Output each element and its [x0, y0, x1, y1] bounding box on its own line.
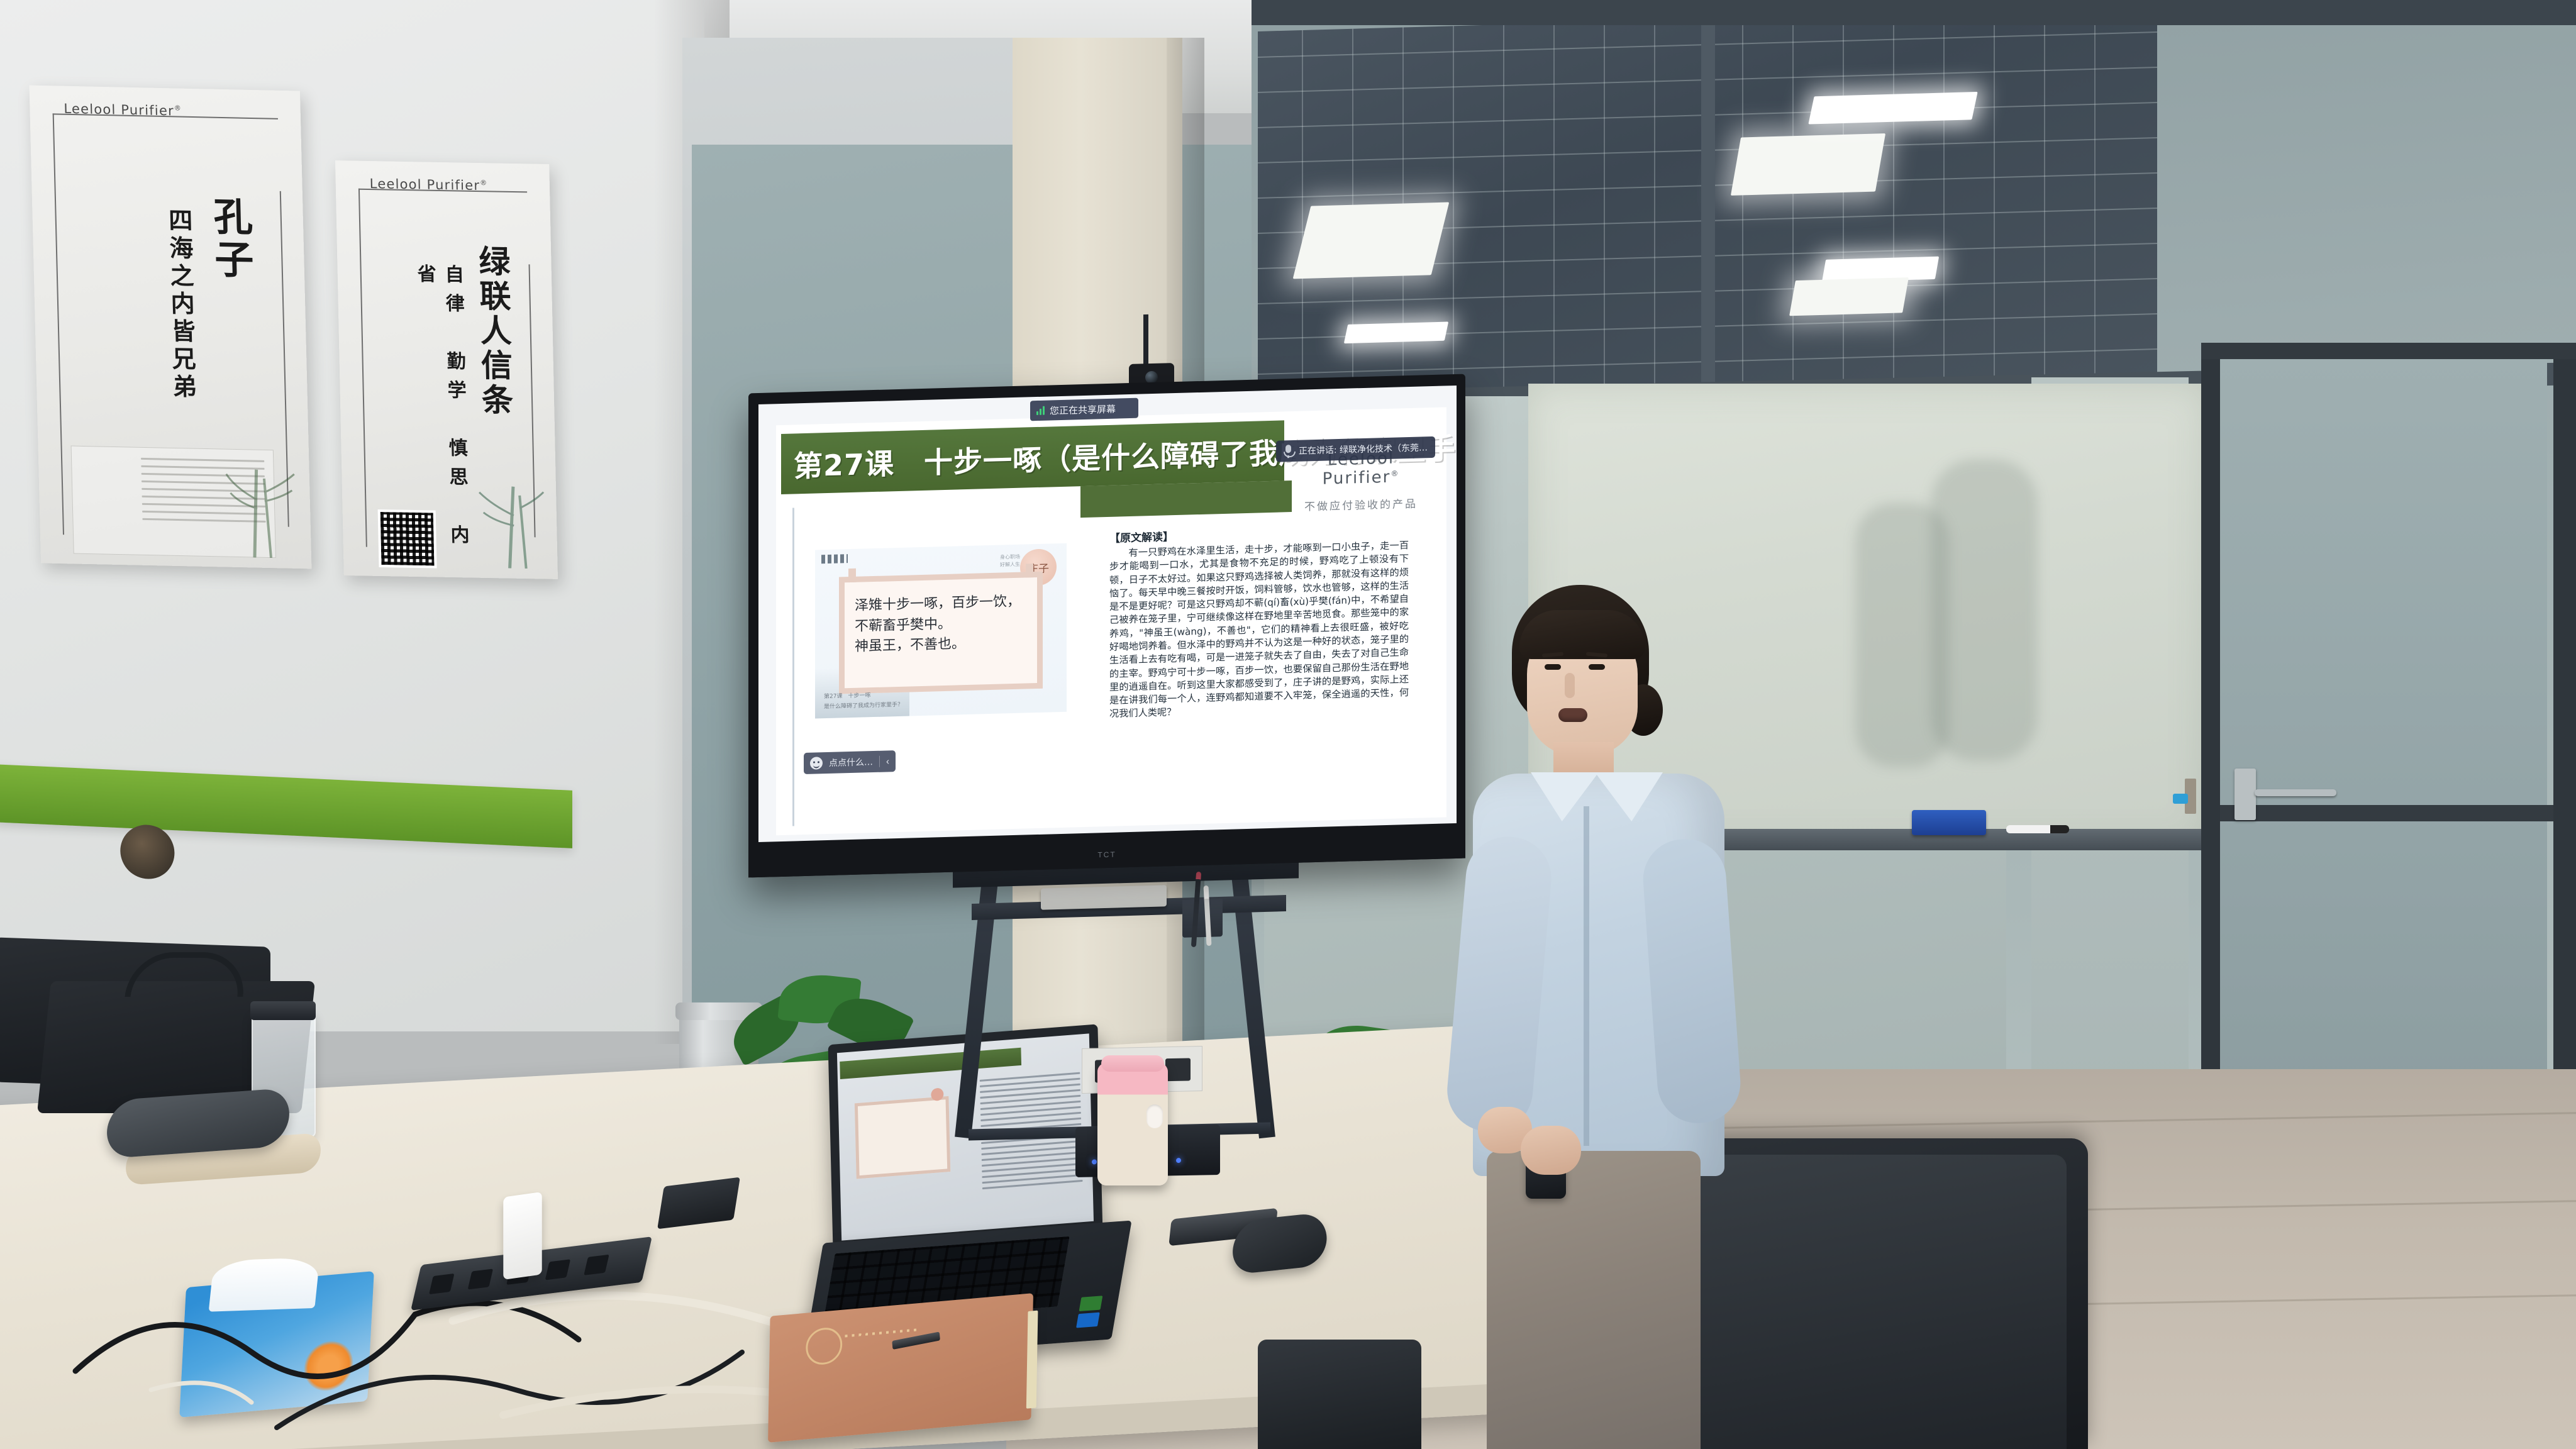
nose — [1565, 673, 1575, 698]
emoji-face-icon[interactable] — [810, 757, 823, 770]
ceiling-light-panel — [1293, 202, 1450, 279]
notebook-logo-emboss — [806, 1326, 843, 1366]
door-lock-plate — [2235, 769, 2256, 820]
pen[interactable] — [892, 1331, 940, 1349]
quote-line: 神虽王，不善也。 — [855, 632, 1031, 657]
door-rail — [2220, 805, 2553, 821]
whiteboard-marker[interactable] — [2006, 825, 2069, 833]
webcam-mount — [1143, 314, 1148, 366]
door-frame-top — [2201, 343, 2576, 359]
door-frame-right — [2553, 343, 2576, 1179]
poster-title: 绿联人信条 — [469, 245, 518, 418]
slide-body-column: 【原文解读】 有一只野鸡在水泽里生活，走十步，才能啄到一口小虫子，走一百步才能喝… — [1109, 521, 1409, 801]
ceiling-light-panel — [1789, 277, 1909, 316]
quote-text: 泽雉十步一啄，百步一饮， 不蕲畜乎樊中。 神虽王，不善也。 — [855, 591, 1031, 657]
presenter — [1465, 585, 1729, 1449]
bamboo-illustration — [469, 474, 546, 569]
poster-brand-label: Leelool Purifier® — [64, 101, 182, 119]
partition-top-frame — [1252, 0, 2576, 25]
gpu-sticker — [1079, 1296, 1103, 1311]
door-hinge-cap — [2173, 794, 2188, 804]
hand-right — [1521, 1126, 1581, 1175]
office-chair-center[interactable] — [1258, 1340, 1421, 1449]
slide-title-bar: 第27课 十步一啄（是什么障碍了我成为行家里手？） — [781, 420, 1284, 494]
whiteboard-eraser[interactable] — [1912, 810, 1986, 835]
stylus-holder — [1182, 899, 1223, 938]
wireless-keyboard[interactable] — [1041, 885, 1167, 910]
quote-card-footer: 第27课 十步一啄 是什么障碍了我成为行家里手？ — [824, 691, 903, 712]
wall-display[interactable]: 第27课 十步一啄（是什么障碍了我成为行家里手？） Leelool Purifi… — [748, 374, 1465, 878]
door-handle[interactable] — [2255, 789, 2336, 796]
thermos-lid — [1101, 1055, 1164, 1072]
brand-tagline: 不做应付验收的产品 — [1289, 494, 1433, 514]
cpu-sticker — [1076, 1313, 1100, 1328]
laptop-quote-card — [855, 1096, 950, 1179]
hair-fringe — [1519, 610, 1645, 659]
ceiling-light-panel — [1731, 133, 1885, 196]
quote-card-ribbon — [821, 554, 848, 563]
slide-comment-toolbar[interactable]: 点点什么… ‹ — [804, 750, 896, 774]
jar-lid — [250, 1001, 316, 1020]
notebook-dot-accent — [845, 1328, 918, 1337]
comment-placeholder: 点点什么… — [829, 755, 873, 769]
display-brand-logo: TCT — [1097, 850, 1116, 860]
poster-subtitle: 四海之内皆兄弟 — [161, 208, 201, 402]
pink-thermos-bottle — [1097, 1063, 1168, 1185]
poster-title: 孔子 — [201, 196, 259, 282]
wall-poster-creed: Leelool Purifier® 绿联人信条 自律 勤学 慎思 内省 — [335, 160, 558, 579]
shirt-placket — [1584, 806, 1589, 1146]
mouth — [1558, 708, 1587, 722]
frosted-glass-door[interactable] — [2214, 358, 2547, 1163]
microphone-icon — [1284, 444, 1293, 457]
usb-charger — [503, 1192, 541, 1280]
ceiling-light-tube — [1808, 92, 1977, 125]
quote-frame: 泽雉十步一啄，百步一饮， 不蕲畜乎樊中。 神虽王，不善也。 — [839, 572, 1043, 694]
screen-share-banner[interactable]: 您正在共享屏幕 — [1030, 398, 1138, 421]
qr-code[interactable] — [378, 509, 437, 569]
laptop-slide-title-bar — [840, 1048, 1021, 1079]
speaking-label: 正在讲话: 绿联净化技术（东莞… — [1299, 441, 1428, 457]
wall-poster-confucius: Leelool Purifier® 孔子 四海之内皆兄弟 — [30, 86, 312, 569]
speaking-indicator: 正在讲话: 绿联净化技术（东莞… — [1276, 436, 1435, 462]
thermos-button — [1146, 1104, 1163, 1128]
ceiling-light-tube — [1344, 322, 1448, 344]
trousers — [1487, 1151, 1701, 1449]
signal-bars-icon — [1036, 406, 1045, 415]
door-frame-left — [2201, 343, 2220, 1179]
window-mullion — [1701, 13, 1715, 403]
eye — [1545, 664, 1561, 670]
leather-notebook — [768, 1293, 1033, 1443]
chevron-left-icon[interactable]: ‹ — [886, 756, 889, 767]
poster-brand-label: Leelool Purifier® — [370, 176, 488, 193]
bamboo-illustration — [222, 463, 300, 558]
presentation-slide[interactable]: 第27课 十步一啄（是什么障碍了我成为行家里手？） Leelool Purifi… — [776, 407, 1446, 835]
slide-left-rule — [792, 508, 794, 826]
quote-seal-side-text: 身心职场好解人生 — [1000, 553, 1020, 569]
slide-quote-card: 身心职场好解人生 庄子 泽雉十步一啄，百步一饮， 不蕲畜乎樊中。 神虽王，不善也… — [815, 543, 1067, 719]
eye — [1589, 664, 1605, 670]
screen-share-label: 您正在共享屏幕 — [1050, 402, 1116, 417]
slide-body-text: 有一只野鸡在水泽里生活，走十步，才能啄到一口小虫子，走一百步才能喝到一口水，尤其… — [1109, 539, 1409, 721]
display-screen[interactable]: 第27课 十步一啄（是什么障碍了我成为行家里手？） Leelool Purifi… — [758, 386, 1457, 842]
notebook-pages — [1026, 1311, 1038, 1409]
meeting-room-scene: Leelool Purifier® 孔子 四海之内皆兄弟 Leelool Pur… — [0, 0, 2576, 1449]
